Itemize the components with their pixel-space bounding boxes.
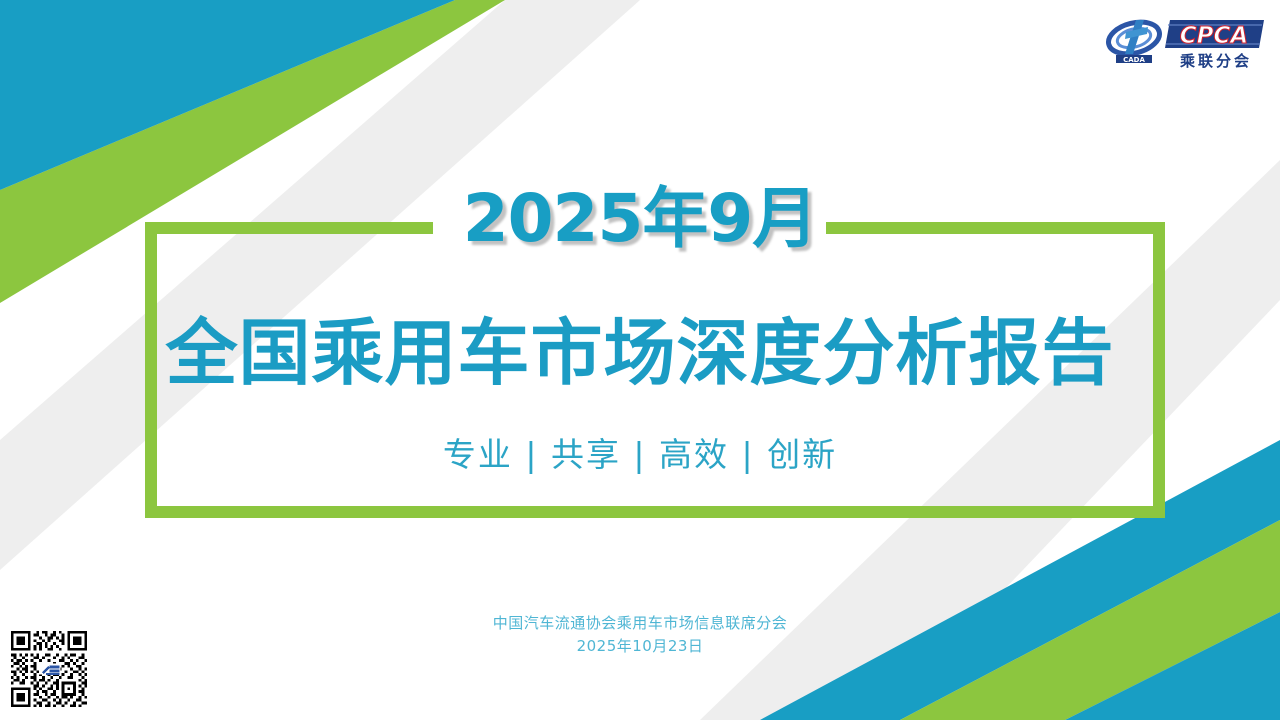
presentation-slide: 2025年9月 全国乘用车市场深度分析报告 专业 | 共享 | 高效 | 创新 … [0,0,1280,720]
footer-organization: 中国汽车流通协会乘用车市场信息联席分会 [0,612,1280,635]
qr-code[interactable] [8,628,90,710]
report-period-title: 2025年9月 [0,186,1280,252]
report-main-title: 全国乘用车市场深度分析报告 [0,313,1280,394]
cpca-wordmark: CPCA 乘联分会 [1165,20,1264,70]
cada-emblem-icon: CADA [1105,17,1163,64]
cada-mark-text: CADA [1123,56,1145,64]
footer-date: 2025年10月23日 [0,635,1280,658]
slogan-subtitle: 专业 | 共享 | 高效 | 创新 [0,434,1280,475]
slide-footer: 中国汽车流通协会乘用车市场信息联席分会 2025年10月23日 [0,612,1280,659]
cpca-logo: CADA CPCA 乘联分会 [1104,14,1264,72]
cpca-brand-sub: 乘联分会 [1179,52,1252,70]
qr-center-logo-icon [39,663,60,675]
slide-content: 2025年9月 全国乘用车市场深度分析报告 专业 | 共享 | 高效 | 创新 … [0,0,1280,720]
cpca-brand-text: CPCA [1180,23,1248,49]
